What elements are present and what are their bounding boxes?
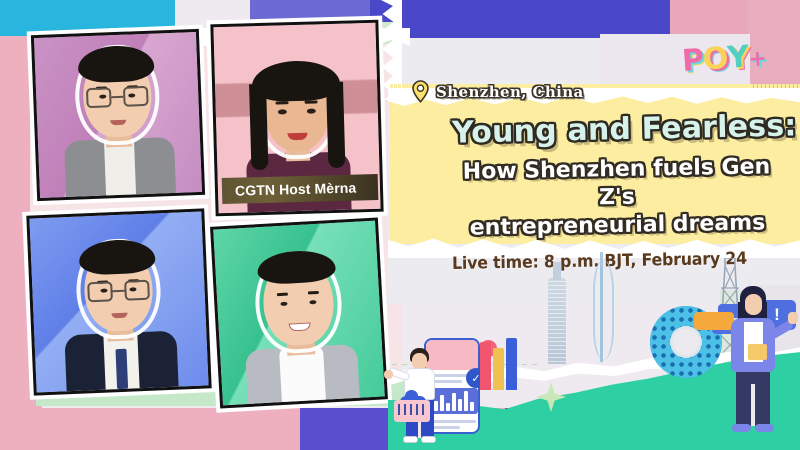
map-pin-icon — [412, 80, 429, 103]
promo-poster: ››› POY+ — [0, 0, 800, 450]
guest-photo-bottom-right — [210, 217, 388, 408]
keyboard-icon — [394, 400, 430, 422]
guest-photo-bottom-left — [26, 208, 211, 395]
skyscraper-icon — [548, 278, 566, 364]
subtitle-line-1: How Shenzhen fuels Gen Z's — [451, 153, 782, 215]
skyscraper-spire-icon — [553, 262, 561, 280]
woman-illustration — [722, 286, 784, 436]
poy-logo: POY+ — [681, 33, 770, 85]
bg-pink-top-right — [670, 0, 748, 34]
bg-indigo-strip — [250, 0, 375, 20]
location-label: Shenzhen, China — [412, 80, 584, 103]
logo-plus-icon: + — [747, 36, 768, 83]
subtitle-line-2: entrepreneurial dreams — [452, 209, 782, 243]
portrait-figure — [55, 43, 181, 197]
disc-hole — [673, 329, 699, 355]
guest-photo-top-left — [31, 29, 205, 201]
tablet-icon — [748, 344, 767, 360]
canton-tower-icon — [600, 252, 603, 362]
bg-pink-bottom-left — [0, 408, 300, 450]
bg-indigo-band — [370, 0, 670, 38]
portrait-figure — [230, 229, 369, 404]
logo-letter-o: O — [701, 36, 729, 84]
location-text: Shenzhen, China — [436, 83, 584, 101]
portrait-figure — [51, 221, 188, 391]
bg-purple-bottom-1 — [300, 408, 400, 450]
page-title: Young and Fearless: — [452, 108, 797, 150]
page-subtitle: How Shenzhen fuels Gen Z's entrepreneuri… — [451, 153, 782, 243]
host-caption-label: CGTN Host Mèrna — [222, 174, 379, 204]
